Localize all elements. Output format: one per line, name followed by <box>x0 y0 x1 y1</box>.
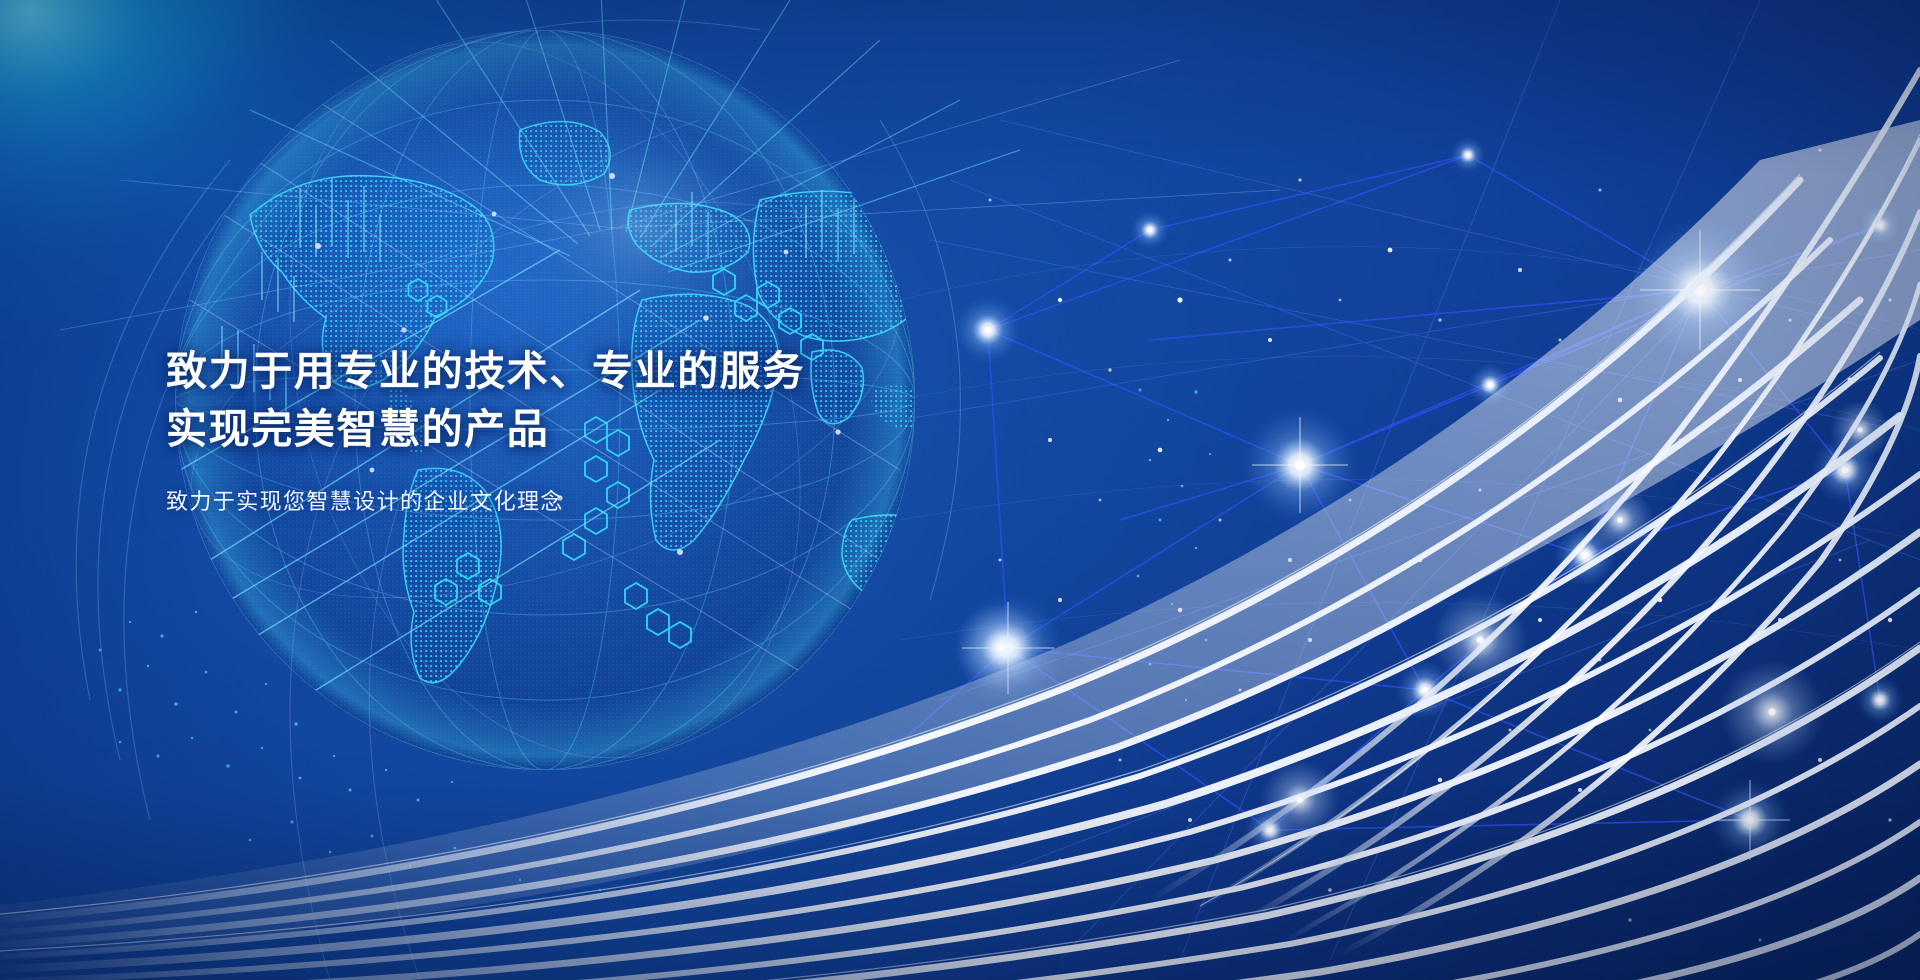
hero-banner: 致力于用专业的技术、专业的服务 实现完美智慧的产品 致力于实现您智慧设计的企业文… <box>0 0 1920 980</box>
hero-copy: 致力于用专业的技术、专业的服务 实现完美智慧的产品 致力于实现您智慧设计的企业文… <box>166 342 1066 516</box>
headline-line-1: 致力于用专业的技术、专业的服务 <box>166 342 1066 400</box>
headline-line-2: 实现完美智慧的产品 <box>166 400 1066 458</box>
subtitle: 致力于实现您智慧设计的企业文化理念 <box>166 484 1066 516</box>
